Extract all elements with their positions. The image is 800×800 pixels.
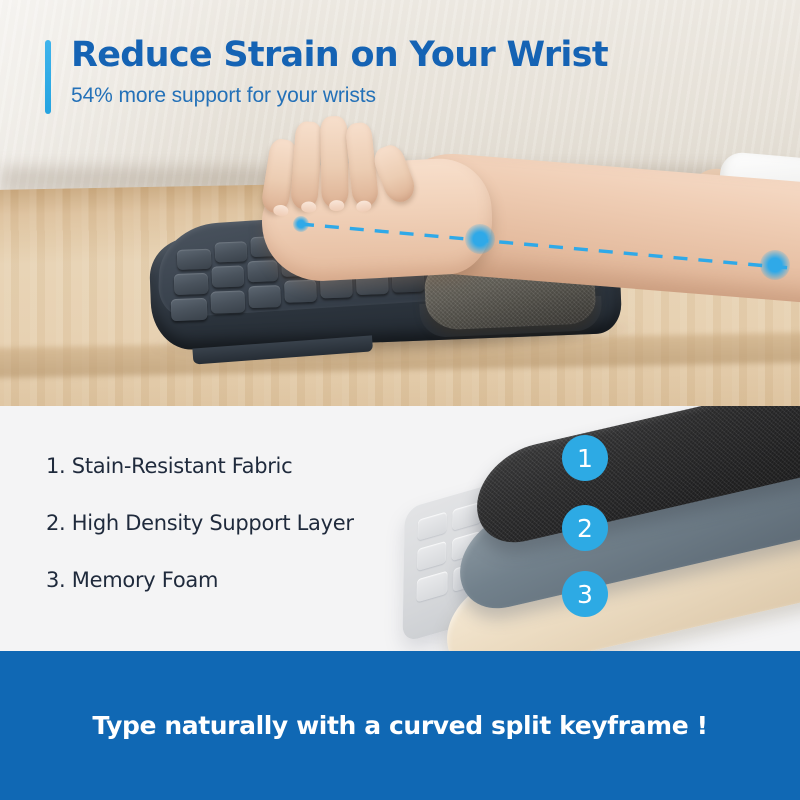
infographic-page: Reduce Strain on Your Wrist 54% more sup… — [0, 0, 800, 800]
feature-list: 1. Stain-Resistant Fabric 2. High Densit… — [46, 454, 354, 625]
badge-2: 2 — [562, 505, 608, 551]
alignment-marker-wrist — [465, 224, 495, 254]
accent-bar — [45, 40, 51, 114]
alignment-marker-start — [293, 216, 309, 232]
badge-3: 3 — [562, 571, 608, 617]
layers-section: 1. Stain-Resistant Fabric 2. High Densit… — [0, 406, 800, 651]
list-item: 2. High Density Support Layer — [46, 511, 354, 535]
alignment-marker-end — [760, 250, 790, 280]
list-item: 3. Memory Foam — [46, 568, 354, 592]
page-subtitle: 54% more support for your wrists — [71, 84, 745, 108]
list-item: 1. Stain-Resistant Fabric — [46, 454, 354, 478]
hero-photo: Reduce Strain on Your Wrist 54% more sup… — [0, 0, 800, 406]
badge-1: 1 — [562, 435, 608, 481]
header-block: Reduce Strain on Your Wrist 54% more sup… — [45, 36, 745, 108]
banner-text: Type naturally with a curved split keyfr… — [92, 711, 707, 740]
bottom-banner: Type naturally with a curved split keyfr… — [0, 651, 800, 800]
page-title: Reduce Strain on Your Wrist — [71, 36, 745, 75]
